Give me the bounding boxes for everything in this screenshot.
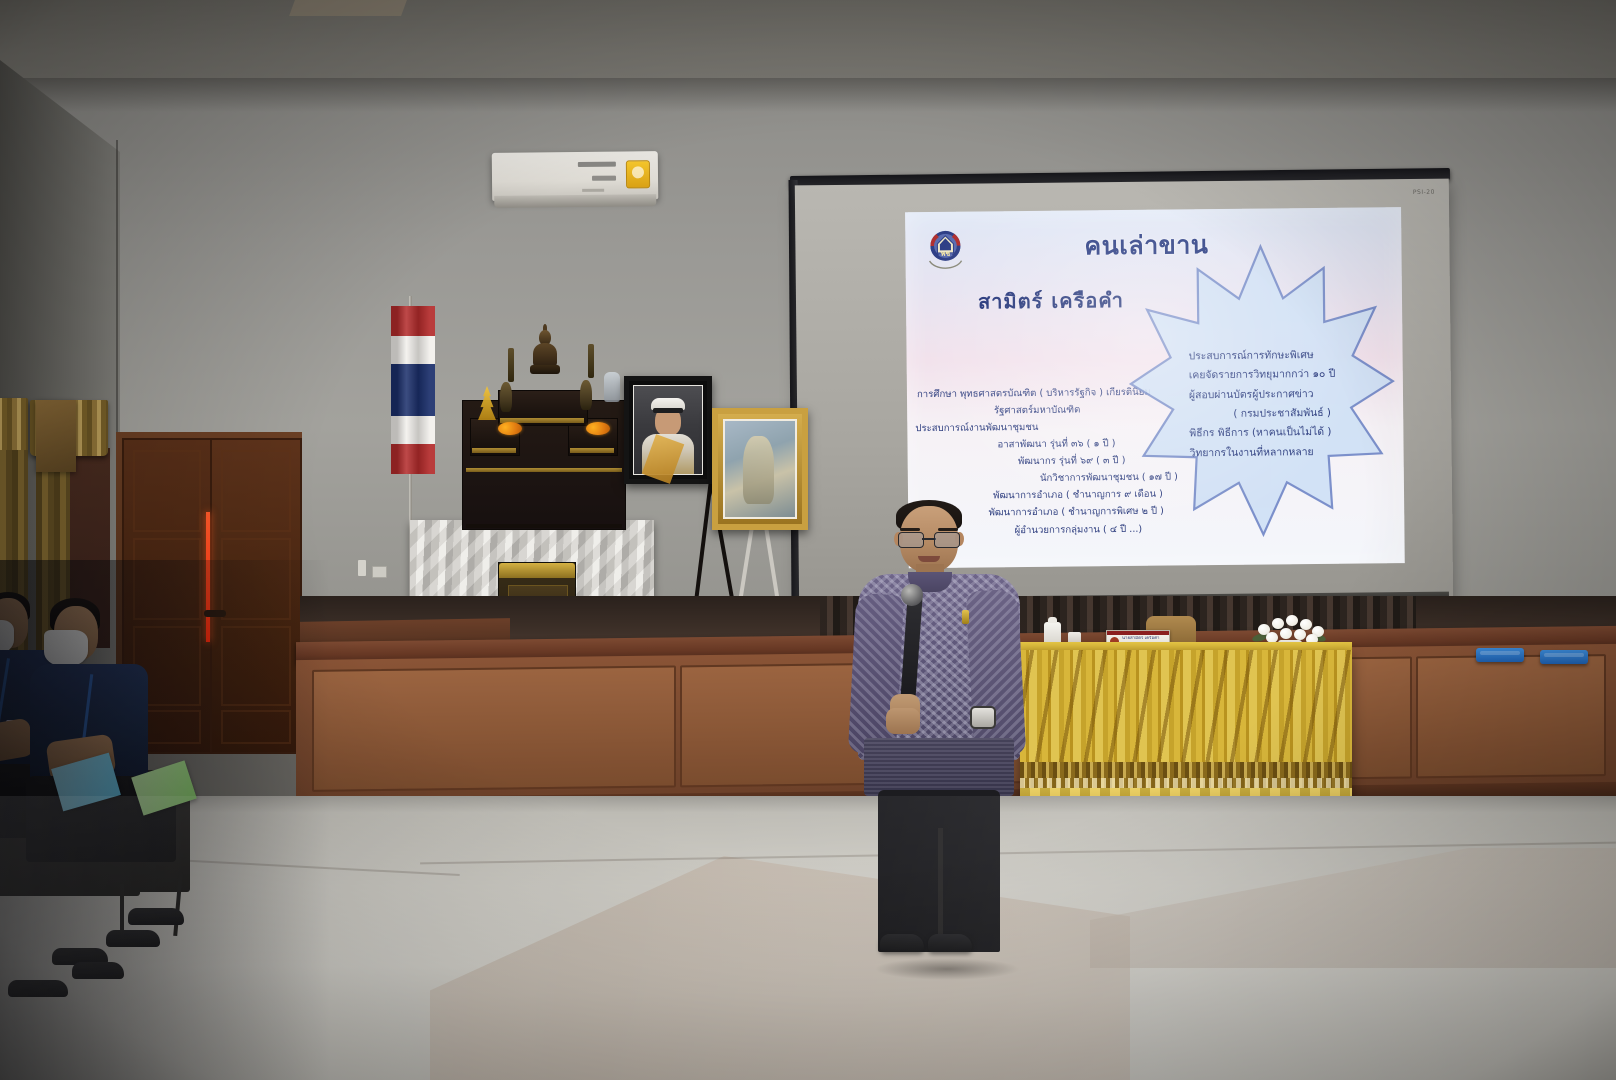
white-rose	[1294, 629, 1306, 640]
ac-air-vent	[494, 194, 656, 208]
queen-portrait-image	[723, 419, 797, 519]
star-line: เคยจัดรายการวิทยุมากกว่า ๑๐ ปี	[1189, 365, 1375, 386]
placard-top-band	[1107, 631, 1169, 635]
light-switch[interactable]	[358, 560, 366, 576]
marigold-garland-left	[498, 422, 522, 435]
star-line: ผู้สอบผ่านบัตรผู้ประกาศข่าว	[1189, 384, 1375, 405]
wristwatch	[970, 706, 996, 729]
conference-hall-photo: PSI-20 พช คนเล่าขาน สามิตร์	[0, 0, 1616, 1080]
altar-gold-trim	[472, 448, 516, 453]
stage-panel	[1416, 654, 1606, 778]
lapel-pin	[962, 610, 969, 624]
star-line: ประสบการณ์การทักษะพิเศษ	[1188, 345, 1374, 366]
door-panel	[221, 626, 291, 706]
presenter-arm-right	[966, 589, 1027, 757]
star-line: พิธีกร พิธีการ (หาคนเป็นไม่ได้ )	[1189, 423, 1375, 444]
candlestick-left	[508, 348, 514, 382]
crystal-ornament	[604, 372, 620, 402]
trouser-leg-gap	[938, 828, 943, 950]
audience-shoe	[106, 930, 160, 947]
ac-model-mark	[592, 176, 616, 181]
face-mask	[0, 620, 14, 654]
candlestick-right	[588, 344, 594, 378]
presenter-shoe-left	[880, 934, 924, 952]
buddha-body	[533, 343, 557, 367]
wall-shadow	[0, 78, 1616, 112]
audience-shoe	[8, 980, 68, 997]
altar-gold-trim	[570, 448, 614, 453]
white-rose	[1272, 618, 1284, 629]
wall-air-conditioner	[492, 151, 658, 201]
queen-figure	[743, 436, 774, 503]
altar-gold-trim	[466, 468, 622, 472]
blue-crate	[1476, 648, 1524, 662]
wooden-double-door-right[interactable]	[210, 438, 302, 754]
altar-base-rail	[466, 524, 622, 528]
white-rose	[1286, 615, 1298, 626]
floor-edge-band	[0, 796, 1616, 812]
offering-box-lid	[499, 563, 575, 578]
eyeglass-lens-right	[934, 532, 960, 548]
eyeglass-lens-left	[898, 532, 924, 548]
screen-corner-code: PSI-20	[1413, 189, 1435, 196]
door-panel	[133, 450, 201, 532]
ac-logo	[582, 189, 604, 192]
king-portrait	[624, 376, 712, 484]
placard-text: นายสามิตร์ เครือคำ	[1122, 636, 1167, 642]
star-callout-text: ประสบการณ์การทักษะพิเศษ เคยจัดรายการวิทย…	[1188, 345, 1375, 463]
star-line: ( กรมประชาสัมพันธ์ )	[1189, 403, 1375, 424]
eyeglasses-icon	[898, 532, 960, 546]
face-mask	[44, 630, 88, 666]
brass-vase-right	[580, 380, 592, 410]
slide-speaker-name: สามิตร์ เครือคำ	[978, 284, 1124, 318]
door-handle[interactable]	[204, 610, 226, 617]
presenter	[852, 498, 1028, 980]
buddha-pedestal	[530, 365, 560, 374]
king-portrait-image	[633, 385, 703, 475]
presenter-eyebrow-left	[900, 528, 920, 531]
door-panel	[221, 710, 291, 744]
wall-outlet	[372, 566, 387, 578]
ceiling-vent	[289, 0, 407, 16]
audience-shoe	[128, 908, 184, 925]
brass-vase-left	[500, 382, 512, 412]
door-panel	[221, 538, 291, 620]
audience-shoe	[72, 962, 124, 979]
presenter-hand-lower	[886, 708, 920, 734]
stage-panel	[312, 665, 676, 791]
presenter-shoe-right	[928, 934, 972, 952]
presenter-waist-band	[864, 738, 1014, 796]
king-cap-brim	[653, 408, 683, 413]
white-rose	[1280, 628, 1292, 639]
table-cloth-border-accent	[1020, 778, 1352, 788]
presenter-eyebrow-right	[938, 528, 958, 531]
wall-plaque	[36, 400, 76, 472]
queen-portrait	[712, 408, 808, 530]
buddha-statue	[530, 330, 560, 382]
table-cloth-pattern	[1020, 650, 1352, 768]
star-callout-shape: ประสบการณ์การทักษะพิเศษ เคยจัดรายการวิทย…	[1127, 241, 1396, 540]
energy-rating-label	[626, 160, 650, 188]
marigold-garland-right	[586, 422, 610, 435]
flag-fold-shading	[391, 306, 435, 474]
curtain-valance	[0, 398, 28, 454]
table-skirt-cloth	[1020, 650, 1352, 810]
ac-brand-mark	[578, 162, 616, 167]
door-panel	[221, 450, 291, 532]
star-line: วิทยากรในงานที่หลากหลาย	[1190, 442, 1376, 463]
blue-crate	[1540, 650, 1588, 664]
thai-national-flag	[391, 306, 435, 474]
presenter-mouth	[918, 556, 940, 562]
door-light-gap	[206, 512, 210, 642]
